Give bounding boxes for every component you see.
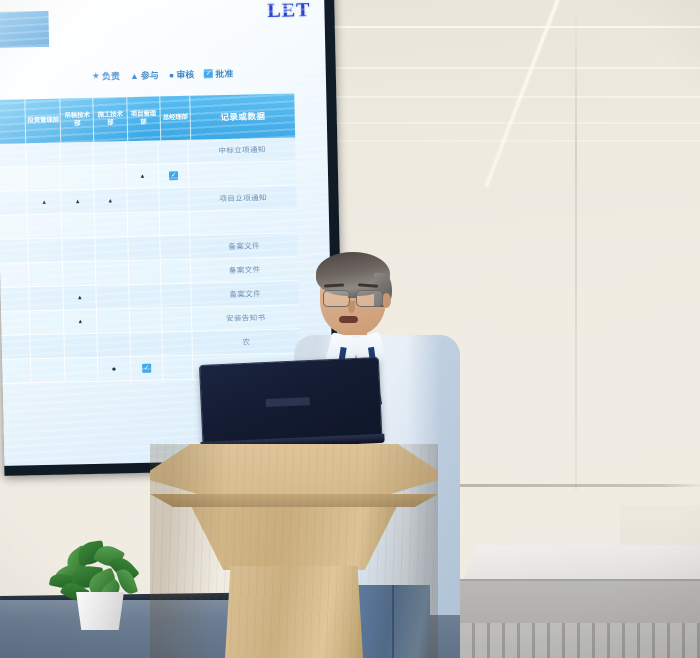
cell-dept-0	[0, 263, 29, 288]
laptop-lid	[200, 358, 381, 446]
table-skirt-pleats	[460, 623, 700, 658]
triangle-icon: ▲	[77, 319, 83, 325]
cell-dept-5	[160, 212, 190, 237]
legend-label-approve: 批准	[215, 67, 233, 80]
cell-dept-4	[129, 284, 162, 309]
draped-table	[460, 545, 700, 658]
checkbox-icon: ✓	[169, 171, 178, 180]
cell-dept-0	[0, 359, 31, 384]
cell-dept-2	[63, 238, 96, 263]
cell-record: 备案文件	[191, 257, 298, 283]
legend-item-responsible: ★负责	[92, 69, 120, 83]
cell-dept-1	[29, 287, 64, 312]
slide-accent-block	[0, 11, 49, 48]
raci-table: 投资管理部 吊装技术部 施工技术部 项目管理部 总经理部 记录或数据 中标立项通…	[0, 93, 300, 383]
lens-left	[323, 290, 350, 307]
legend-label-participate: 参与	[141, 68, 159, 81]
cell-dept-1	[31, 359, 66, 384]
cell-dept-5	[163, 332, 193, 357]
cell-dept-4	[129, 260, 162, 285]
cell-dept-5	[162, 284, 192, 309]
cell-dept-4	[130, 308, 163, 333]
glasses-bridge	[348, 296, 356, 298]
podium-top-surface	[150, 444, 438, 502]
cell-dept-0	[0, 335, 31, 360]
cell-dept-3	[96, 261, 129, 286]
cell-dept-0	[0, 167, 27, 192]
cell-dept-3	[95, 213, 128, 238]
cell-dept-2	[61, 166, 94, 191]
cell-dept-0	[0, 311, 30, 336]
cell-dept-3	[97, 333, 130, 358]
logo-letter-t: T	[296, 0, 311, 21]
dot-icon: ●	[169, 70, 175, 80]
cell-dept-5	[159, 140, 189, 165]
cell-record: 中标立项通知	[188, 137, 295, 163]
lens-right	[356, 290, 383, 307]
wall-panel-lines	[305, 0, 700, 210]
cell-dept-2	[61, 142, 94, 167]
cell-dept-5	[161, 260, 191, 285]
dot-icon: ●	[112, 365, 117, 373]
cell-dept-1	[26, 143, 61, 168]
cell-dept-1	[27, 167, 62, 192]
laptop-brand-logo	[266, 397, 310, 407]
cell-dept-4	[128, 236, 161, 261]
cell-dept-4: ▲	[126, 164, 159, 189]
legend-label-review: 审核	[176, 68, 194, 81]
plant-pot	[74, 592, 126, 630]
potted-plant	[48, 540, 158, 630]
column-header-records: 记录或数据	[191, 93, 296, 139]
podium-body	[190, 504, 398, 570]
cell-dept-3: ●	[98, 357, 131, 382]
let-logo: LET	[267, 0, 311, 23]
cell-dept-1	[28, 239, 63, 264]
legend-item-review: ●审核	[169, 68, 195, 82]
triangle-icon: ▲	[75, 199, 81, 205]
mouth	[339, 316, 358, 323]
cell-dept-3	[96, 285, 129, 310]
cell-dept-2: ▲	[64, 286, 97, 311]
table-header-row: 投资管理部 吊装技术部 施工技术部 项目管理部 总经理部 记录或数据	[0, 93, 295, 144]
cell-dept-5: ✓	[159, 164, 189, 189]
cell-dept-1	[30, 335, 65, 360]
cell-record: 备案文件	[192, 281, 299, 307]
cell-dept-0	[0, 239, 29, 264]
cell-dept-3	[93, 141, 126, 166]
column-header-project: 项目管理部	[127, 96, 161, 141]
legend-item-participate: ▲参与	[130, 68, 159, 82]
cell-dept-0	[0, 191, 28, 216]
cell-dept-3	[95, 237, 128, 262]
cell-dept-1	[29, 263, 64, 288]
cell-record: 项目立项通知	[190, 185, 297, 211]
slide-legend: ★负责 ▲参与 ●审核 ✓批准	[92, 67, 234, 83]
triangle-icon: ▲	[107, 198, 113, 204]
cell-dept-4	[127, 212, 160, 237]
cell-dept-4	[126, 140, 159, 165]
podium-front-lip	[150, 494, 438, 507]
cell-dept-2	[63, 262, 96, 287]
cell-record: 安装告知书	[192, 305, 299, 331]
cell-dept-3	[94, 165, 127, 190]
cell-dept-0	[0, 287, 30, 312]
cell-dept-2: ▲	[62, 190, 95, 215]
triangle-icon: ▲	[139, 173, 145, 179]
star-icon: ★	[92, 71, 100, 82]
checkbox-icon: ✓	[142, 364, 151, 373]
cell-dept-1: ▲	[27, 191, 62, 216]
podium	[150, 444, 438, 658]
triangle-icon: ▲	[130, 70, 139, 80]
column-header-investment: 投资管理部	[26, 99, 62, 144]
legend-item-approve: ✓批准	[204, 67, 233, 81]
laptop	[200, 358, 382, 452]
cell-record: 农	[193, 329, 300, 355]
cell-dept-5	[160, 188, 190, 213]
cell-record	[189, 161, 296, 187]
nose	[348, 301, 355, 313]
cell-dept-2: ▲	[64, 310, 97, 335]
cell-dept-2	[62, 214, 95, 239]
cell-dept-3	[97, 309, 130, 334]
column-header-0	[0, 99, 27, 144]
column-header-hoisting: 吊装技术部	[61, 98, 95, 143]
cell-dept-5	[161, 236, 191, 261]
cell-dept-5	[163, 356, 193, 381]
column-header-gm: 总经理部	[160, 96, 192, 141]
cell-record	[190, 209, 297, 235]
logo-letter-e: E	[282, 0, 297, 23]
cell-dept-2	[65, 358, 98, 383]
cell-dept-5	[162, 308, 192, 333]
cell-dept-4	[127, 188, 160, 213]
cell-dept-1	[30, 311, 65, 336]
wall-vertical-seam	[575, 0, 577, 490]
cell-dept-3: ▲	[94, 189, 127, 214]
cell-record: 备案文件	[191, 233, 298, 259]
checkbox-icon: ✓	[204, 69, 213, 78]
column-header-construction: 施工技术部	[94, 97, 128, 142]
presentation-photo: LET ★负责 ▲参与 ●审核 ✓批准 投资管理部 吊装技术部 施工技术部 项目…	[0, 0, 700, 658]
cell-dept-0	[0, 143, 27, 168]
triangle-icon: ▲	[41, 199, 47, 205]
cell-dept-4	[130, 332, 163, 357]
triangle-icon: ▲	[77, 295, 83, 301]
cell-dept-1	[28, 215, 63, 240]
podium-column	[225, 566, 363, 658]
cell-dept-0	[0, 215, 28, 240]
cell-dept-4: ✓	[131, 356, 164, 381]
legend-label-responsible: 负责	[102, 69, 120, 82]
cell-dept-2	[65, 334, 98, 359]
